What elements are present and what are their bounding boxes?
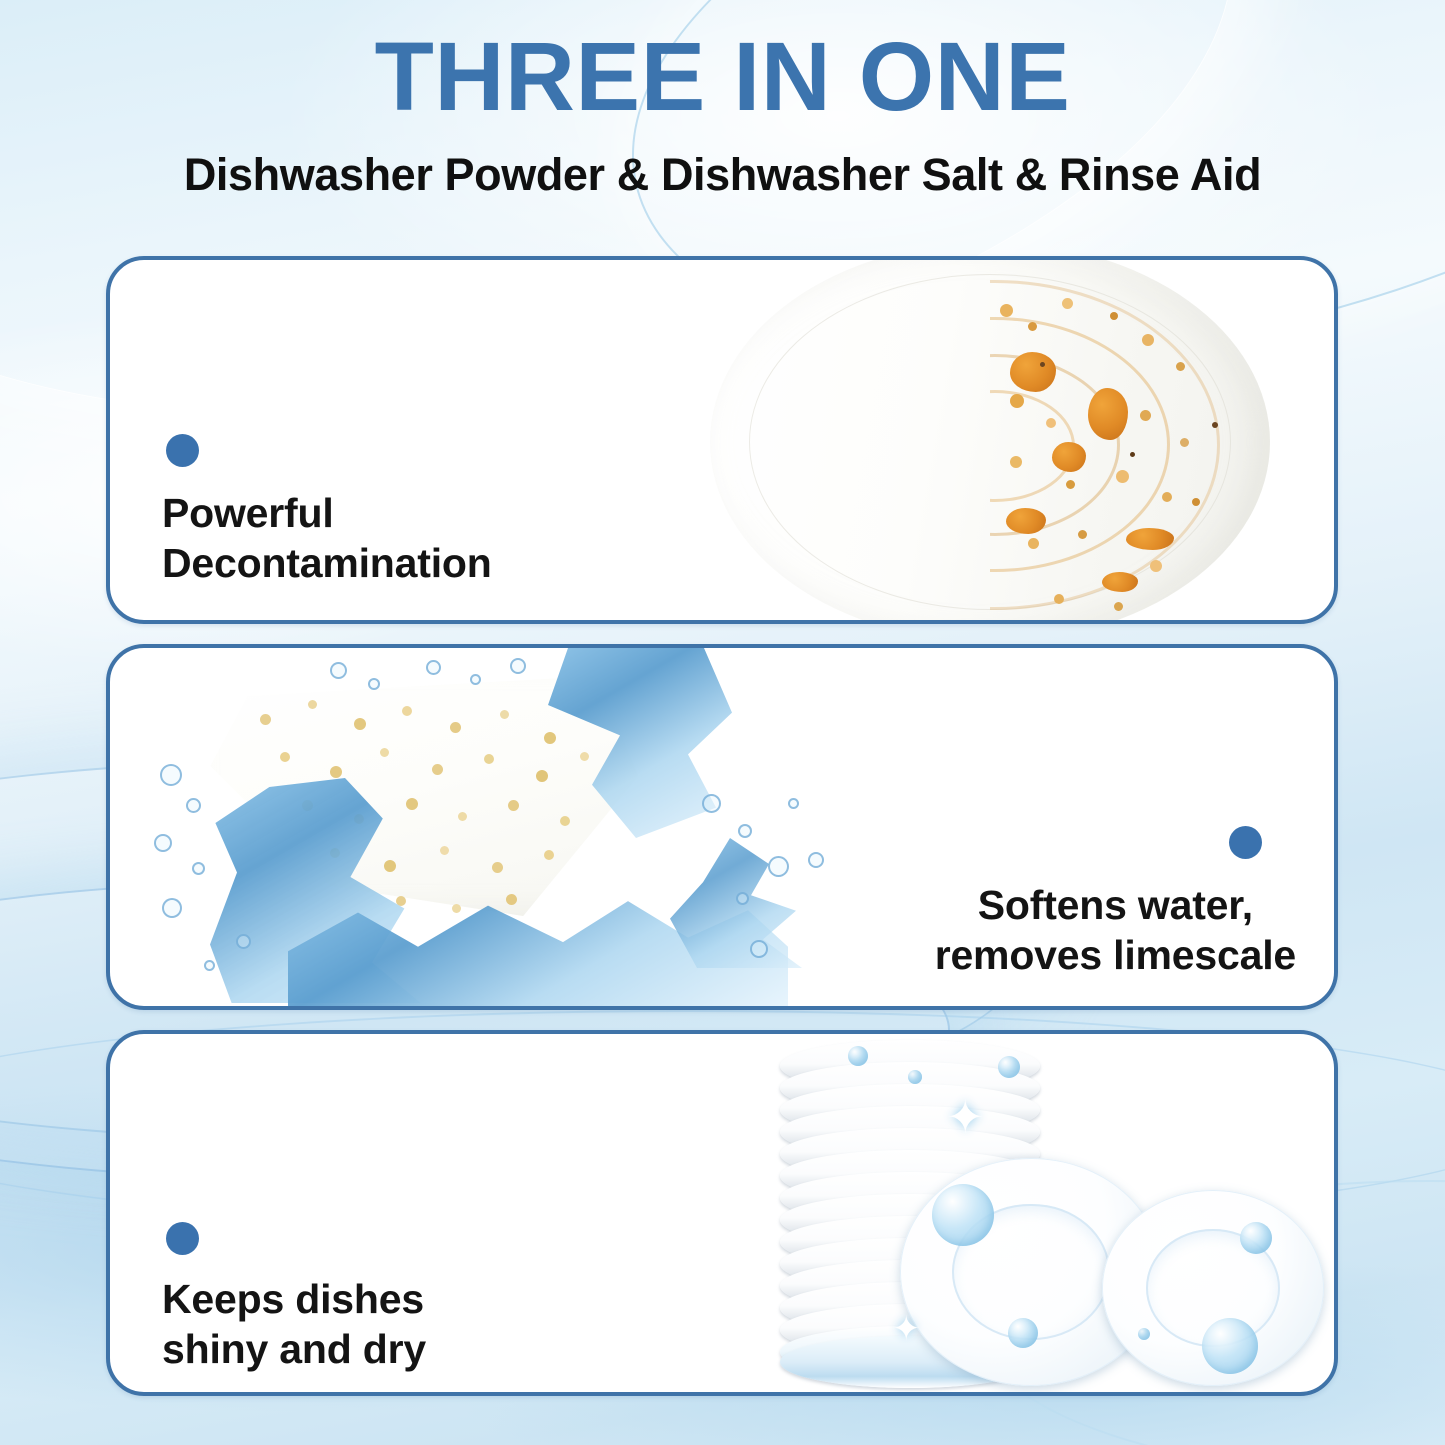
sparkle-icon: ✦: [892, 1312, 921, 1346]
bubble-icon: [998, 1056, 1020, 1078]
feature-caption: Powerful Decontamination: [162, 488, 492, 588]
bullet-dot-icon: [166, 434, 199, 467]
feature-caption: Keeps dishes shiny and dry: [162, 1274, 426, 1374]
bubble-icon: [932, 1184, 994, 1246]
bubble-icon: [848, 1046, 868, 1066]
feature-card-decontamination: Powerful Decontamination: [106, 256, 1338, 624]
dirty-half-overlay: [990, 256, 1270, 624]
bullet-dot-icon: [1229, 826, 1262, 859]
bubble-icon: [908, 1070, 922, 1084]
bubble-icon: [1008, 1318, 1038, 1348]
bullet-dot-icon: [166, 1222, 199, 1255]
bubble-icon: [1202, 1318, 1258, 1374]
feature-card-water-softening: Softens water, removes limescale: [106, 644, 1338, 1010]
bubble-icon: [1138, 1328, 1150, 1340]
product-infographic: THREE IN ONE Dishwasher Powder & Dishwas…: [0, 0, 1445, 1445]
page-subtitle: Dishwasher Powder & Dishwasher Salt & Ri…: [0, 152, 1445, 197]
bubble-icon: [1240, 1222, 1272, 1254]
feature-caption: Softens water, removes limescale: [935, 880, 1296, 980]
stack-of-shiny-plates-photo: ✦ ✦: [750, 1040, 1310, 1396]
sparkle-icon: ✦: [946, 1094, 985, 1140]
split-clean-dirty-plate-photo: [710, 256, 1270, 624]
water-splash-with-powder-photo: [140, 648, 840, 1006]
feature-card-shiny-dry: ✦ ✦ Keeps dishes shiny and dry: [106, 1030, 1338, 1396]
page-title: THREE IN ONE: [0, 28, 1445, 125]
